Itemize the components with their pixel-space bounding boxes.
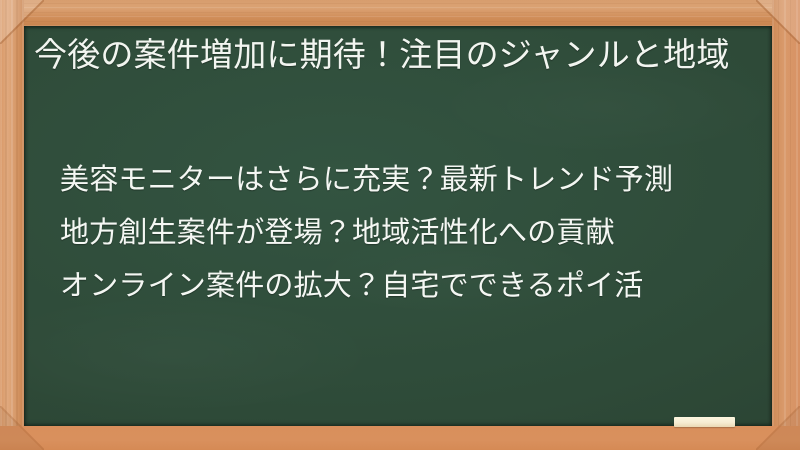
board-line-item: 美容モニターはさらに充実？最新トレンド予測	[60, 154, 750, 207]
frame-rail-right	[772, 0, 800, 450]
board-title: 今後の案件増加に期待！注目のジャンルと地域	[34, 32, 752, 78]
frame-rail-top	[0, 0, 800, 26]
blackboard-graphic: 今後の案件増加に期待！注目のジャンルと地域 美容モニターはさらに充実？最新トレン…	[0, 0, 800, 450]
frame-rail-bottom	[0, 426, 800, 450]
board-line-item: 地方創生案件が登場？地域活性化への貢献	[60, 207, 750, 260]
frame-rail-left	[0, 0, 24, 450]
board-line-item: オンライン案件の拡大？自宅でできるポイ活	[60, 260, 750, 313]
board-line-list: 美容モニターはさらに充実？最新トレンド予測 地方創生案件が登場？地域活性化への貢…	[60, 154, 750, 313]
chalk-stick-icon	[674, 417, 735, 427]
chalkboard-surface: 今後の案件増加に期待！注目のジャンルと地域 美容モニターはさらに充実？最新トレン…	[24, 26, 772, 426]
